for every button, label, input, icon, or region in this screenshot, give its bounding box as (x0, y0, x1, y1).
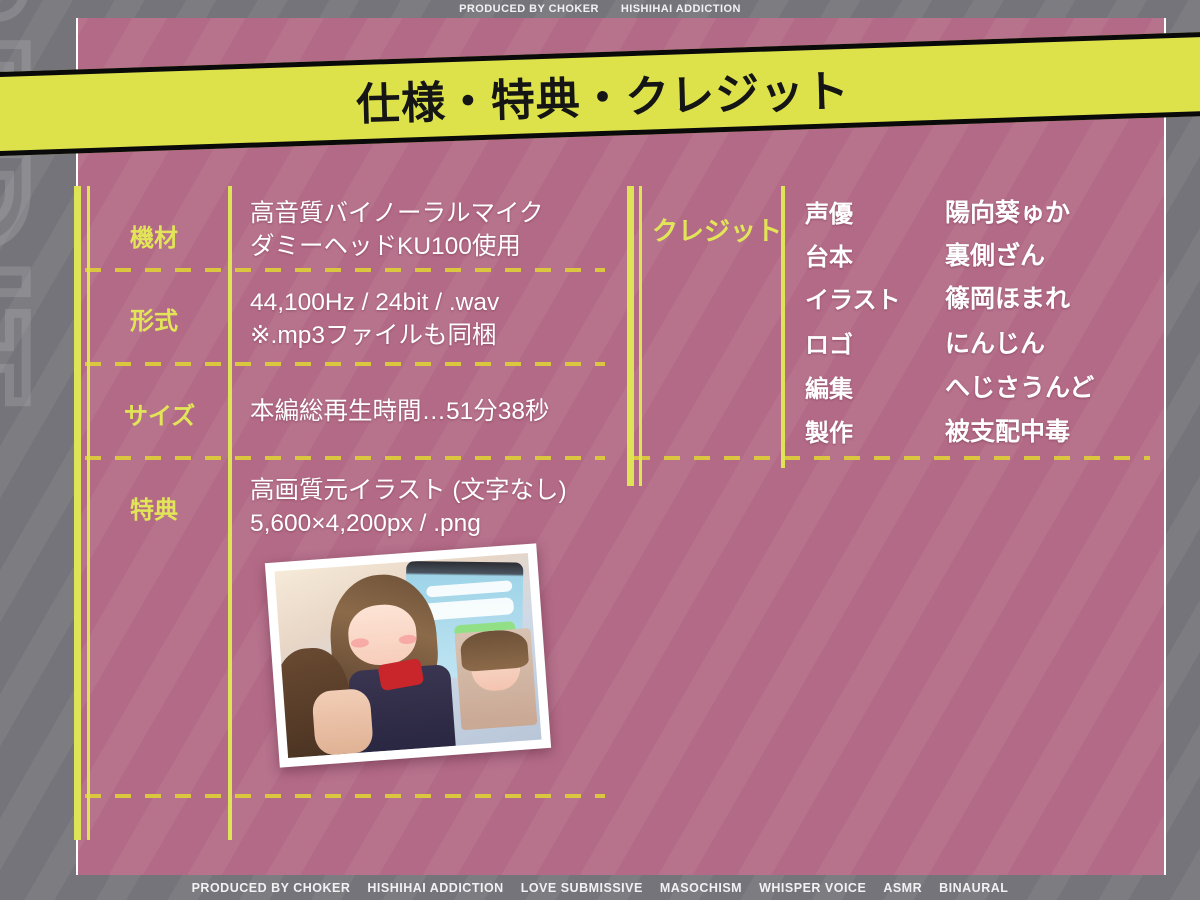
credit-name-production: 被支配中毒 (945, 412, 1070, 448)
credits-rail-thin (639, 186, 642, 486)
credit-name-editing: へじさうんど (945, 368, 1094, 404)
illustration-inset-panel (455, 628, 538, 731)
credit-name-script: 裏側ざん (945, 236, 1045, 272)
spec-label-size: サイズ (124, 396, 195, 431)
spec-divider-3 (85, 456, 605, 460)
spec-label-keishiki: 形式 (130, 301, 178, 336)
panel-right-edge (1164, 18, 1166, 875)
spec-value-size: 本編総再生時間…51分38秒 (250, 396, 550, 429)
illustration-inset-hair (459, 628, 529, 672)
credit-role-illustration: イラスト (805, 280, 901, 315)
spec-divider-2 (85, 362, 605, 366)
bonus-illustration-thumbnail (265, 543, 551, 767)
spec-label-kizai: 機材 (130, 218, 178, 253)
credit-role-voice: 声優 (805, 194, 853, 229)
credit-role-production: 製作 (805, 413, 853, 448)
spec-value-kizai: 高音質バイノーラルマイク ダミーヘッドKU100使用 (250, 198, 544, 263)
spec-divider-1 (85, 268, 605, 272)
spec-label-tokuten: 特典 (130, 490, 178, 525)
illustration-boy-face (311, 688, 374, 756)
spec-rail-thick (74, 186, 81, 840)
spec-rail-thin (87, 186, 90, 840)
illustration-image (274, 553, 541, 758)
credit-name-illustration: 篠岡ほまれ (945, 279, 1070, 315)
spec-column-divider (228, 186, 232, 840)
spec-divider-4 (85, 794, 605, 798)
credits-rail-thick (627, 186, 634, 486)
credit-role-logo: ロゴ (805, 325, 853, 360)
spec-value-tokuten: 高画質元イラスト (文字なし) 5,600×4,200px / .png (250, 475, 567, 540)
credits-heading: クレジット (652, 211, 782, 248)
credit-role-script: 台本 (805, 237, 853, 272)
credits-bottom-divider (634, 456, 1150, 460)
credit-name-voice: 陽向葵ゅか (945, 193, 1070, 229)
credit-role-editing: 編集 (805, 369, 853, 404)
slide-root: PRODUCED BY CHOKER HISHIHAI ADDICTION CR… (0, 0, 1200, 900)
credit-name-logo: にんじん (945, 324, 1045, 360)
page-title: 仕様・特典・クレジット (355, 55, 850, 133)
spec-value-keishiki: 44,100Hz / 24bit / .wav ※.mp3ファイルも同梱 (250, 287, 499, 352)
